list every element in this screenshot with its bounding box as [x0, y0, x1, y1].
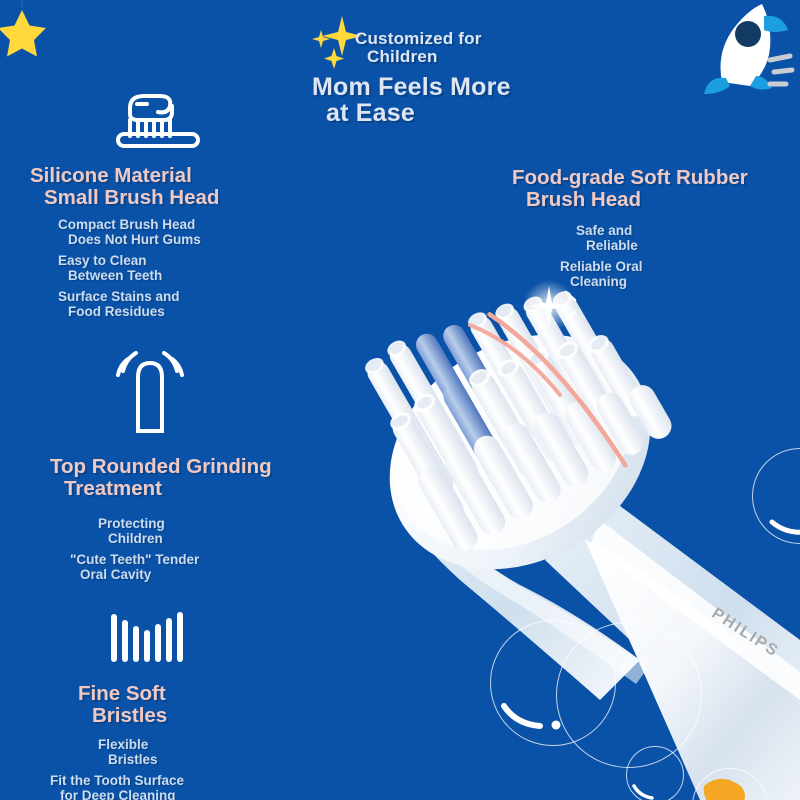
fine-bristles-icon [108, 608, 188, 666]
feature-sub-item: Surface Stains and Food Residues [58, 290, 290, 319]
feature-sub-item: Easy to Clean Between Teeth [58, 254, 290, 283]
feature-title: Top Rounded Grinding Treatment [50, 456, 310, 499]
feature-sub-item: "Cute Teeth" Tender Oral Cavity [70, 553, 310, 582]
feature-silicone-material: Silicone Material Small Brush Head Compa… [30, 165, 290, 327]
bubble-right-edge-highlight [752, 448, 800, 544]
feature-sub-item: Fit the Tooth Surface for Deep Cleaning [50, 774, 338, 800]
feature-sub-item: Flexible Bristles [98, 738, 338, 767]
feature-sub-item: Safe and Reliable [576, 224, 792, 253]
feature-rounded-grinding: Top Rounded Grinding Treatment Protectin… [50, 456, 310, 589]
headline-line2: at Ease [312, 100, 572, 126]
rocket-icon [686, 0, 800, 110]
kicker-line2: Children [355, 48, 585, 66]
feature-title: Silicone Material Small Brush Head [30, 165, 290, 208]
bubble-left-highlight [490, 620, 616, 746]
feature-fine-soft-bristles: Fine Soft Bristles Flexible Bristles Fit… [78, 683, 338, 800]
feature-sub-item: Reliable Oral Cleaning [560, 260, 792, 289]
headline-line1: Mom Feels More [312, 73, 511, 101]
star-icon [0, 0, 60, 62]
toothbrush-paste-icon [108, 88, 208, 154]
feature-sub-item: Compact Brush Head Does Not Hurt Gums [58, 218, 290, 247]
feature-sub-item: Protecting Children [98, 517, 310, 546]
page-title: Mom Feels More at Ease [312, 74, 572, 126]
ad-canvas: Customized for Children Mom Feels More a… [0, 0, 800, 800]
feature-food-grade-rubber: Food-grade Soft Rubber Brush Head Safe a… [512, 167, 792, 296]
kicker-text: Customized for Children [355, 30, 585, 65]
bubble-orange-fill [692, 768, 768, 800]
rounded-tip-vibration-icon [110, 345, 190, 435]
bubble-small-highlight [626, 746, 684, 800]
feature-title: Food-grade Soft Rubber Brush Head [512, 167, 792, 210]
feature-title: Fine Soft Bristles [78, 683, 338, 726]
kicker-line1: Customized for [355, 29, 482, 48]
